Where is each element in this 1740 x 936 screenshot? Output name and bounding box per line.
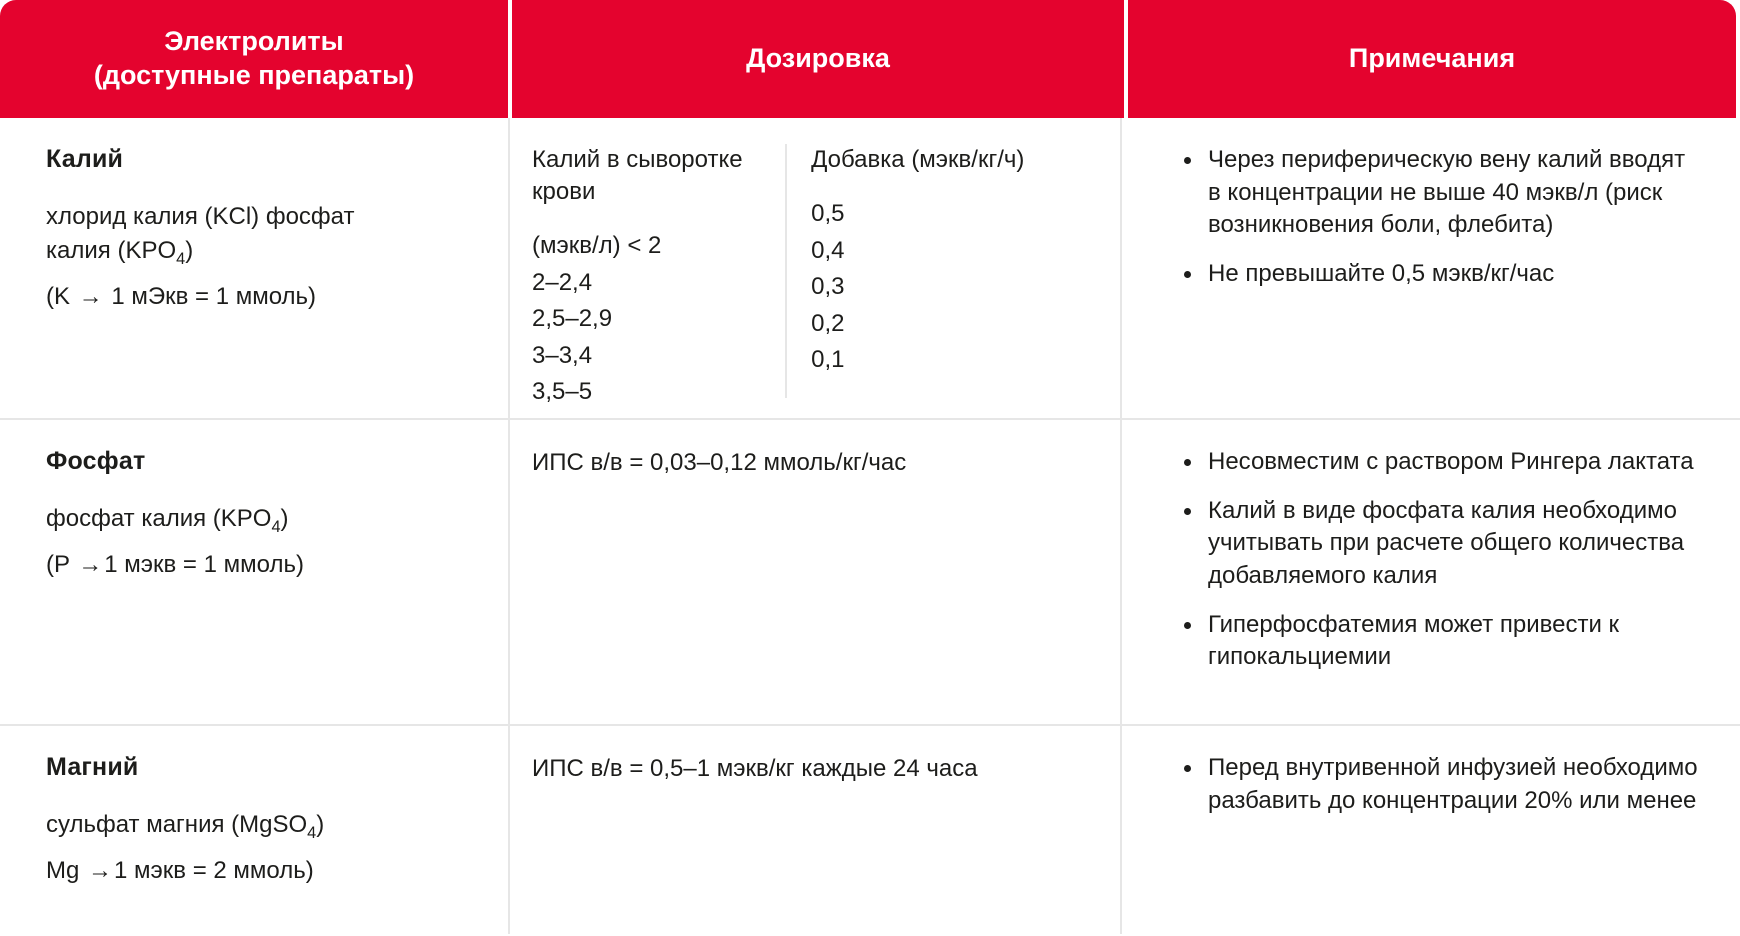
electrolyte-title: Магний <box>46 752 474 782</box>
dosage-text: ИПС в/в = 0,03–0,12 ммоль/кг/час <box>510 446 920 704</box>
list-item: Через периферическую вену калий вводят в… <box>1182 144 1698 242</box>
cell-notes: Несовместим с раствором Рингера лактата … <box>1122 420 1738 724</box>
table-row: Фосфат фосфат калия (KPO4) (P →1 мэкв = … <box>0 420 1740 726</box>
list-item: Не превышайте 0,5 мэкв/кг/час <box>1182 258 1698 291</box>
list-item: Калий в виде фосфата калия необходимо уч… <box>1182 495 1698 593</box>
dosage-supplement-header: Добавка (мэкв/кг/ч) <box>811 144 1106 176</box>
arrow-icon: → <box>77 283 105 310</box>
dosage-serum-value: 3,5–5 <box>532 374 771 410</box>
list-item: Гиперфосфатемия может привести к гипокал… <box>1182 609 1698 674</box>
equiv-prefix: (P <box>46 551 70 578</box>
dosage-supplement-value: 0,3 <box>811 269 1106 305</box>
cell-electrolyte-name: Магний сульфат магния (MgSO4) Mg →1 мэкв… <box>0 726 510 934</box>
drugs-subscript: 4 <box>271 518 280 536</box>
header-electrolytes-line1: Электролиты <box>94 25 414 59</box>
electrolyte-equivalence: Mg →1 мэкв = 2 ммоль) <box>46 854 406 888</box>
header-notes-label: Примечания <box>1349 42 1515 76</box>
electrolyte-drugs: фосфат калия (KPO4) <box>46 502 406 536</box>
equiv-prefix: Mg <box>46 857 79 884</box>
cell-dosage: ИПС в/в = 0,03–0,12 ммоль/кг/час <box>510 420 1122 724</box>
dosage-supplement-value: 0,4 <box>811 233 1106 269</box>
header-cell-notes: Примечания <box>1128 0 1736 118</box>
table-header-row: Электролиты (доступные препараты) Дозиро… <box>0 0 1740 118</box>
table-row: Калий хлорид калия (KCl) фосфат калия (K… <box>0 118 1740 420</box>
list-item: Перед внутривенной инфузией необходимо р… <box>1182 752 1698 817</box>
dosage-supplement-value: 0,5 <box>811 196 1106 232</box>
cell-electrolyte-name: Калий хлорид калия (KCl) фосфат калия (K… <box>0 118 510 418</box>
equiv-text: 1 мэкв = 1 ммоль) <box>104 551 304 578</box>
arrow-icon: → <box>76 551 104 578</box>
header-dosage-label: Дозировка <box>746 42 890 76</box>
electrolyte-drugs: сульфат магния (MgSO4) <box>46 808 406 842</box>
drugs-text-part1: фосфат калия (KPO <box>46 505 271 532</box>
dosage-subcolumn-serum: Калий в сыворотке крови (мэкв/л) < 2 2–2… <box>510 144 787 398</box>
drugs-subscript: 4 <box>307 824 316 842</box>
electrolyte-equivalence: (P →1 мэкв = 1 ммоль) <box>46 548 406 582</box>
cell-dosage: ИПС в/в = 0,5–1 мэкв/кг каждые 24 часа <box>510 726 1122 934</box>
list-item: Несовместим с раствором Рингера лактата <box>1182 446 1698 479</box>
notes-list: Через периферическую вену калий вводят в… <box>1152 144 1698 291</box>
equiv-text: 1 мэкв = 2 ммоль) <box>114 857 314 884</box>
dosage-subcolumn-supplement: Добавка (мэкв/кг/ч) 0,5 0,4 0,3 0,2 0,1 <box>787 144 1120 398</box>
dosage-serum-value: 3–3,4 <box>532 338 771 374</box>
cell-notes: Через периферическую вену калий вводят в… <box>1122 118 1738 418</box>
drugs-text-part1: хлорид калия (KCl) фосфат <box>46 203 354 230</box>
cell-dosage: Калий в сыворотке крови (мэкв/л) < 2 2–2… <box>510 118 1122 418</box>
table-row: Магний сульфат магния (MgSO4) Mg →1 мэкв… <box>0 726 1740 934</box>
electrolyte-title: Калий <box>46 144 474 174</box>
electrolyte-equivalence: (K → 1 мЭкв = 1 ммоль) <box>46 280 406 314</box>
dosage-serum-value: 2,5–2,9 <box>532 301 771 337</box>
drugs-text-part3: ) <box>185 237 193 264</box>
drugs-text-part2: ) <box>316 811 324 838</box>
serum-header-line1: Калий в сыворотке <box>532 146 743 173</box>
notes-list: Несовместим с раствором Рингера лактата … <box>1152 446 1698 674</box>
dosage-supplement-value: 0,2 <box>811 306 1106 342</box>
drugs-text-part1: сульфат магния (MgSO <box>46 811 307 838</box>
electrolytes-table: Электролиты (доступные препараты) Дозиро… <box>0 0 1740 936</box>
serum-header-line2: крови <box>532 178 595 205</box>
dosage-text: ИПС в/в = 0,5–1 мэкв/кг каждые 24 часа <box>510 752 992 914</box>
equiv-text: 1 мЭкв = 1 ммоль) <box>111 283 316 310</box>
cell-notes: Перед внутривенной инфузией необходимо р… <box>1122 726 1738 934</box>
dosage-serum-header: Калий в сыворотке крови <box>532 144 771 208</box>
electrolyte-drugs: хлорид калия (KCl) фосфат калия (KPO4) <box>46 200 406 268</box>
header-cell-dosage: Дозировка <box>512 0 1124 118</box>
notes-list: Перед внутривенной инфузией необходимо р… <box>1152 752 1698 817</box>
cell-electrolyte-name: Фосфат фосфат калия (KPO4) (P →1 мэкв = … <box>0 420 510 724</box>
dosage-serum-value: 2–2,4 <box>532 265 771 301</box>
header-cell-electrolytes: Электролиты (доступные препараты) <box>0 0 508 118</box>
drugs-subscript: 4 <box>176 250 185 268</box>
header-electrolytes-line2: (доступные препараты) <box>94 59 414 93</box>
drugs-text-part2: калия (KPO <box>46 237 176 264</box>
table-body: Калий хлорид калия (KCl) фосфат калия (K… <box>0 118 1740 934</box>
electrolyte-title: Фосфат <box>46 446 474 476</box>
dosage-supplement-value: 0,1 <box>811 342 1106 378</box>
drugs-text-part2: ) <box>281 505 289 532</box>
equiv-prefix: (K <box>46 283 70 310</box>
arrow-icon: → <box>86 857 114 884</box>
dosage-serum-unit-row: (мэкв/л) < 2 <box>532 228 771 264</box>
